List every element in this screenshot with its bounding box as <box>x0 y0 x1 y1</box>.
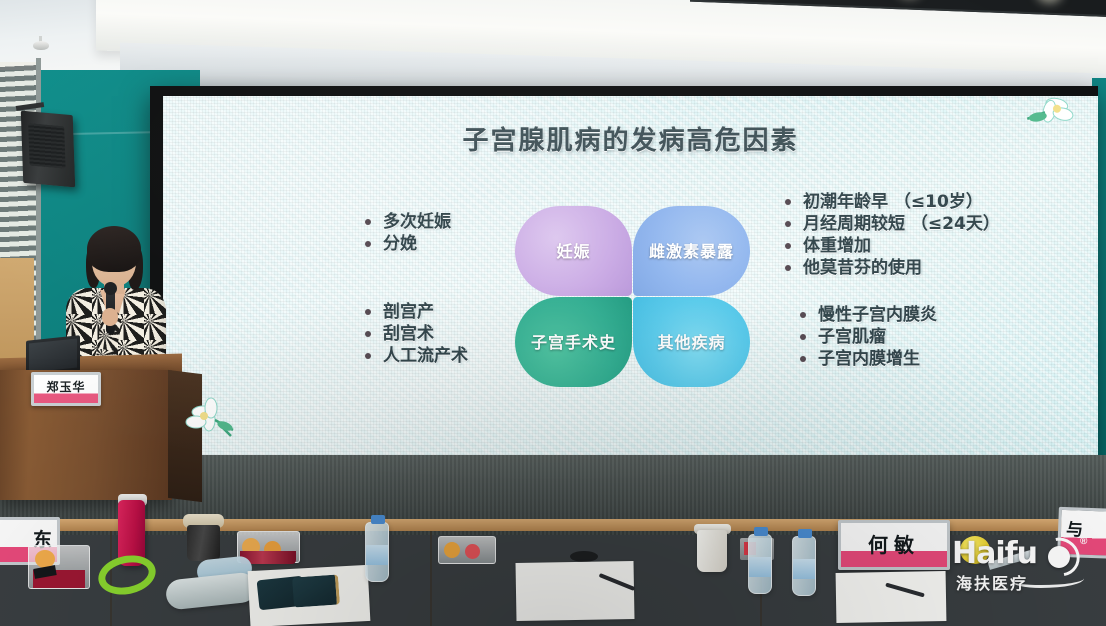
led-screen: 子宫腺肌病的发病高危因素 多次妊娠 分娩 剖宫产 刮宫术 人工流产术 妊娠 雌激… <box>163 96 1098 458</box>
black-disc <box>570 551 598 562</box>
list-item: 月经周期较短 （≤24天） <box>783 213 1000 235</box>
coffee-cup <box>697 530 727 572</box>
bottle-cap <box>371 515 385 524</box>
logo-trademark-icon: ® <box>1080 536 1087 547</box>
list-item: 多次妊娠 <box>363 211 451 233</box>
list-item: 分娩 <box>363 233 451 255</box>
presenter-nameplate: 郑玉华 <box>31 372 101 406</box>
water-bottle <box>365 522 389 582</box>
logo-brand-text: Haifu <box>952 536 1037 571</box>
flower-decoration-icon <box>181 396 237 442</box>
presentation-photo-scene: 子宫腺肌病的发病高危因素 多次妊娠 分娩 剖宫产 刮宫术 人工流产术 妊娠 雌激… <box>0 0 1106 626</box>
list-item: 体重增加 <box>783 235 1000 257</box>
list-item: 他莫昔芬的使用 <box>783 257 1000 279</box>
petal-estrogen-exposure: 雌激素暴露 <box>633 206 750 296</box>
logo-dot-icon <box>1048 546 1070 568</box>
slide-left-bullets-top: 多次妊娠 分娩 <box>363 211 451 255</box>
water-bottle <box>792 536 816 596</box>
petal-pregnancy: 妊娠 <box>515 206 632 296</box>
bottle-cap <box>798 529 812 538</box>
petal-other-diseases: 其他疾病 <box>633 297 750 387</box>
lunch-box <box>438 536 496 564</box>
list-item: 子宫内膜增生 <box>798 348 937 370</box>
bottle-label <box>749 557 771 577</box>
presenter-hair <box>87 226 141 272</box>
presentation-slide: 子宫腺肌病的发病高危因素 多次妊娠 分娩 剖宫产 刮宫术 人工流产术 妊娠 雌激… <box>163 96 1098 458</box>
wall-speaker-icon <box>21 111 75 188</box>
microphone-head-icon <box>104 282 117 295</box>
list-item: 初潮年龄早 （≤10岁） <box>783 191 1000 213</box>
list-item: 刮宫术 <box>363 323 468 345</box>
bottle-label <box>366 545 388 565</box>
slide-title: 子宫腺肌病的发病高危因素 <box>163 120 1098 157</box>
slide-left-bullets-bottom: 剖宫产 刮宫术 人工流产术 <box>363 301 468 367</box>
smartphone <box>292 574 340 607</box>
list-item: 慢性子宫内膜炎 <box>798 304 937 326</box>
logo-brand-text-cn: 海扶医疗 <box>956 570 1028 594</box>
four-petal-diagram: 妊娠 雌激素暴露 子宫手术史 其他疾病 <box>515 206 750 386</box>
haifu-logo: Haifu ® 海扶医疗 <box>952 536 1098 594</box>
paper-sheet <box>516 561 635 621</box>
bottle-label <box>793 559 815 579</box>
list-item: 人工流产术 <box>363 345 468 367</box>
bottle-cap <box>754 527 768 536</box>
table-seam <box>430 531 432 626</box>
slide-right-bullets-top: 初潮年龄早 （≤10岁） 月经周期较短 （≤24天） 体重增加 他莫昔芬的使用 <box>783 191 1000 279</box>
slide-right-bullets-bottom: 慢性子宫内膜炎 子宫肌瘤 子宫内膜增生 <box>798 304 937 370</box>
drink-cup <box>187 525 220 561</box>
table-nameplate-center: 何敏 <box>838 520 950 570</box>
smoke-detector-icon <box>33 41 49 50</box>
water-bottle <box>748 534 772 594</box>
list-item: 子宫肌瘤 <box>798 326 937 348</box>
paper-sheet <box>836 571 947 623</box>
presenter-hand <box>102 308 118 326</box>
list-item: 剖宫产 <box>363 301 468 323</box>
fruit-container <box>28 545 90 589</box>
petal-uterine-surgery-history: 子宫手术史 <box>515 297 632 387</box>
